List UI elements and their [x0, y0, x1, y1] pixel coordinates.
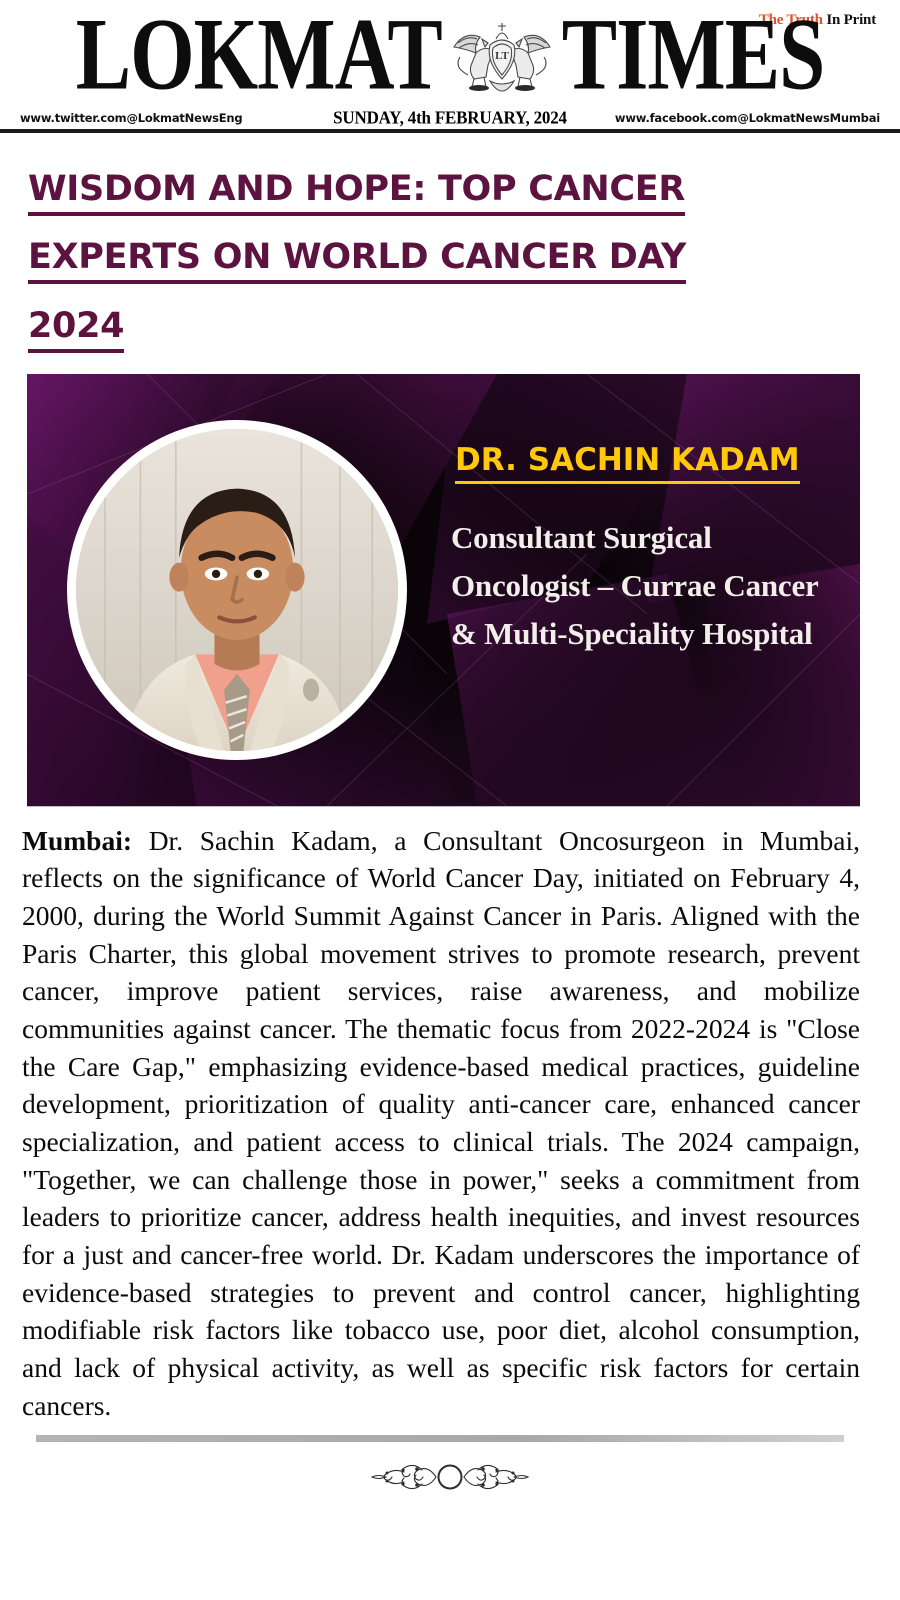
- article-headline: Wisdom and Hope: Top Cancer Experts on W…: [28, 155, 788, 360]
- twitter-handle[interactable]: www.twitter.com@LokmatNewsEng: [20, 111, 242, 125]
- article-body: Mumbai: Dr. Sachin Kadam, a Consultant O…: [22, 822, 860, 1425]
- floral-scroll-ornament: [370, 1456, 530, 1498]
- article-body-text: Dr. Sachin Kadam, a Consultant Oncosurge…: [22, 825, 860, 1421]
- article-city-dateline: Mumbai:: [22, 825, 132, 856]
- doctor-profile-banner: DR. SACHIN KADAM Consultant Surgical Onc…: [27, 374, 860, 806]
- strap-divider: [0, 129, 900, 133]
- doctor-portrait-avatar: [67, 420, 407, 760]
- nameplate-word-lokmat: LOKMAT: [76, 10, 442, 97]
- nameplate-word-times: TIMES: [562, 10, 825, 97]
- issue-dateline: SUNDAY, 4th FEBRUARY, 2024: [333, 107, 567, 128]
- footer-divider: [36, 1435, 844, 1442]
- crest-monogram: LT: [495, 50, 509, 62]
- doctor-photo: [76, 429, 398, 751]
- doctor-name: DR. SACHIN KADAM: [455, 442, 800, 484]
- newspaper-nameplate: LOKMAT: [0, 14, 900, 94]
- headline-text: Wisdom and Hope: Top Cancer Experts on W…: [28, 169, 686, 353]
- masthead: The Truth In Print LOKMAT: [0, 0, 900, 103]
- doctor-role: Consultant Surgical Oncologist – Currae …: [451, 514, 833, 658]
- lokmat-crest-icon: LT: [446, 17, 558, 95]
- facebook-handle[interactable]: www.facebook.com@LokmatNewsMumbai: [615, 111, 880, 125]
- masthead-strap: www.twitter.com@LokmatNewsEng SUNDAY, 4t…: [0, 103, 900, 133]
